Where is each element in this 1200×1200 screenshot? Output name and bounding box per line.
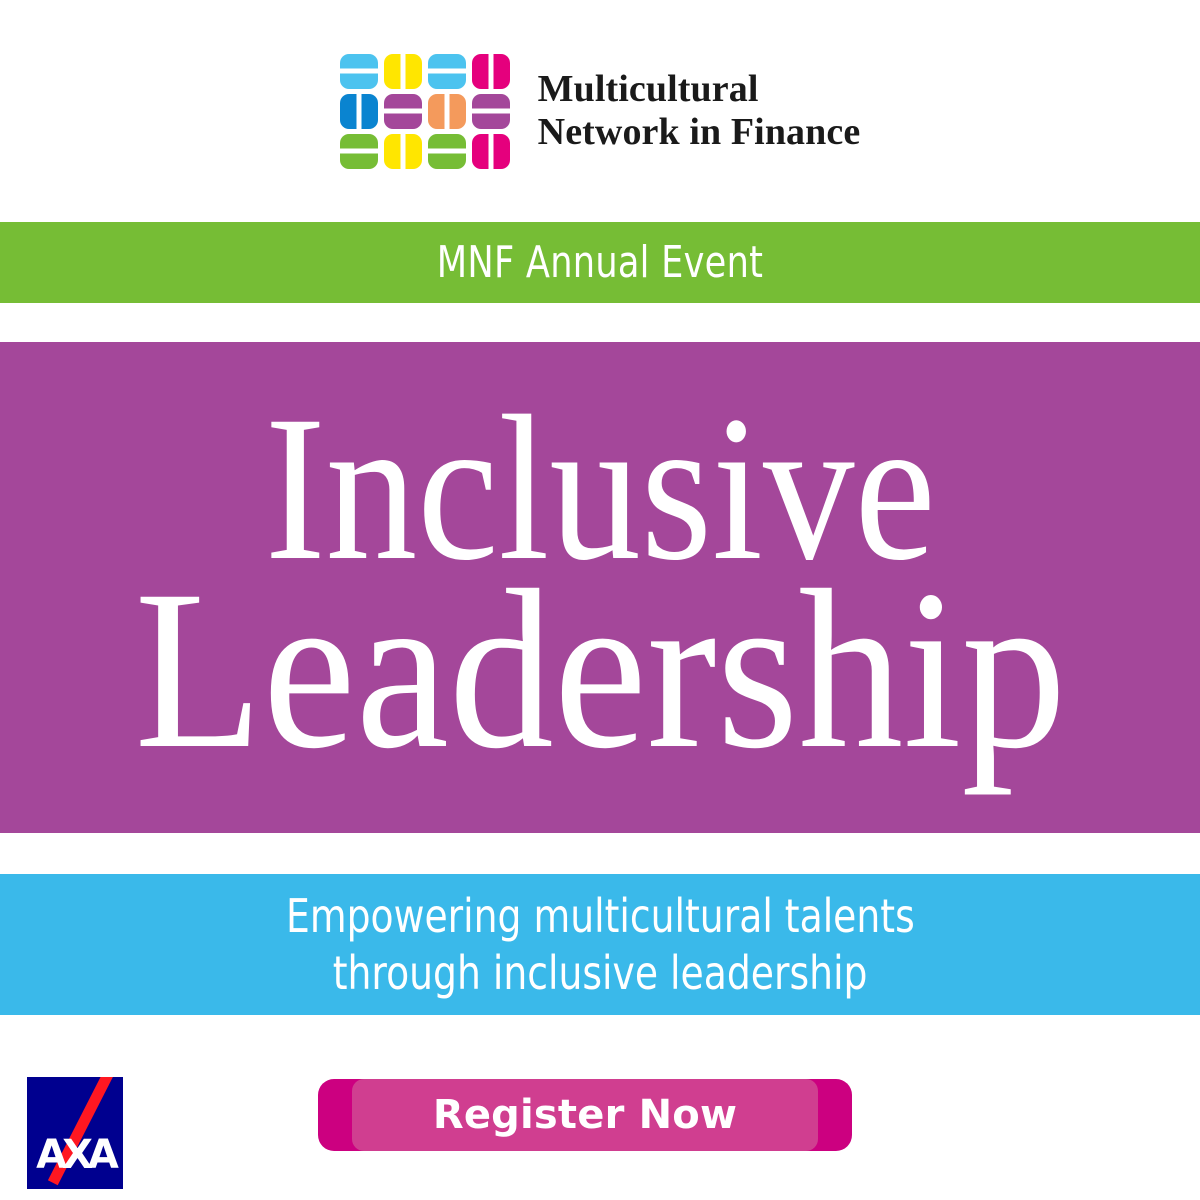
- logo-header: Multicultural Network in Finance: [0, 0, 1200, 222]
- tagline-line-1: Empowering multicultural talents: [286, 888, 915, 944]
- register-cta: Register Now: [318, 1079, 852, 1151]
- logo-tile-8: [472, 94, 510, 129]
- tagline-band: Empowering multicultural talents through…: [0, 874, 1200, 1015]
- axa-logo: AXA: [27, 1077, 123, 1189]
- logo-tile-6: [384, 94, 422, 129]
- logo-tile-1: [340, 54, 378, 89]
- register-now-button[interactable]: Register Now: [352, 1079, 818, 1151]
- logo-tile-10: [384, 134, 422, 169]
- logo-tile-12: [472, 134, 510, 169]
- axa-wordmark: AXA: [27, 1135, 123, 1175]
- logo-tile-11: [428, 134, 466, 169]
- hero-title-line-2: Leadership: [134, 562, 1066, 779]
- logo-tile-2: [384, 54, 422, 89]
- register-now-label: Register Now: [433, 1092, 737, 1138]
- eyebrow-text: MNF Annual Event: [437, 237, 763, 288]
- mnf-logo-grid-icon: [340, 54, 510, 169]
- eyebrow-band: MNF Annual Event: [0, 222, 1200, 303]
- hero-band: Inclusive Leadership: [0, 342, 1200, 833]
- logo-tile-7: [428, 94, 466, 129]
- logo-tile-3: [428, 54, 466, 89]
- logo-tile-5: [340, 94, 378, 129]
- mnf-logo-wordmark: Multicultural Network in Finance: [538, 68, 861, 153]
- tagline-line-2: through inclusive leadership: [333, 945, 868, 1001]
- logo-tile-4: [472, 54, 510, 89]
- logo-tile-9: [340, 134, 378, 169]
- mnf-logo: Multicultural Network in Finance: [340, 54, 861, 169]
- event-poster: Multicultural Network in Finance MNF Ann…: [0, 0, 1200, 1200]
